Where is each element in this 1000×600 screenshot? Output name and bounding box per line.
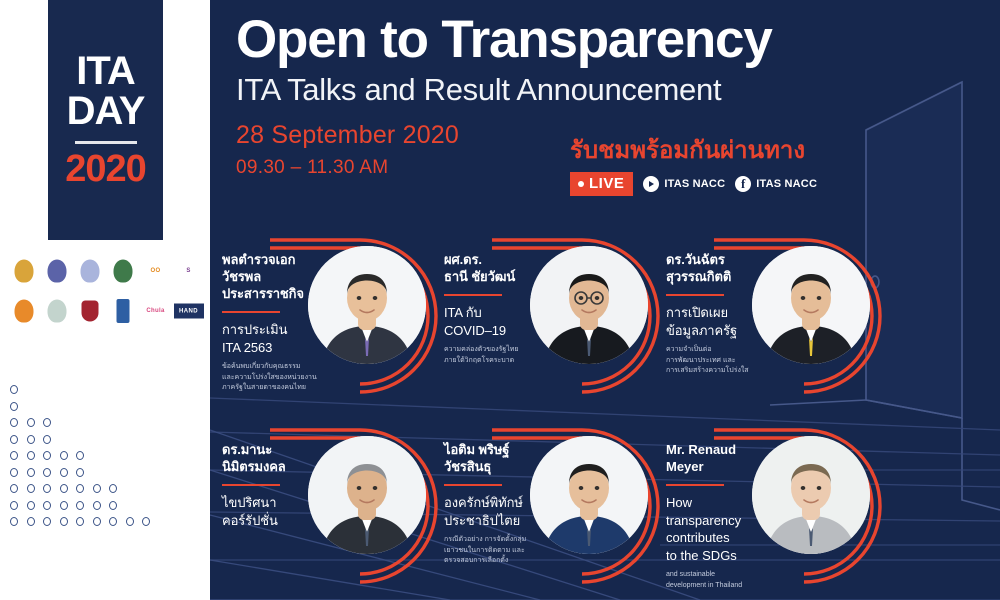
partner-logo-5: OO	[145, 258, 167, 284]
dot-circle-icon	[142, 517, 150, 526]
dot-circle-icon	[43, 501, 51, 510]
speaker-desc-line: development in Thailand	[666, 581, 778, 592]
partner-logo-10	[112, 298, 134, 324]
portrait-mana	[308, 436, 426, 554]
speaker-photo	[530, 246, 648, 364]
dot-circle-icon	[60, 517, 68, 526]
dot-circle-icon	[76, 468, 84, 477]
left-white-panel: ITA DAY 2020 OOSChulaHAND	[0, 0, 210, 600]
live-badge: LIVE	[570, 172, 633, 196]
dot-circle-icon	[93, 517, 101, 526]
speaker-description: ความคล่องตัวของรัฐไทยภายใต้วิกฤตโรคระบาด	[444, 345, 556, 366]
dot-circle-icon	[60, 468, 68, 477]
facebook-icon[interactable]: f	[735, 176, 751, 192]
speaker-description: ข้อค้นพบเกี่ยวกับคุณธรรมและความโปร่งใสขอ…	[222, 362, 334, 394]
dot-circle-icon	[93, 501, 101, 510]
speaker-photo	[752, 246, 870, 364]
page-subtitle: ITA Talks and Result Announcement	[236, 72, 772, 108]
portrait-parit	[530, 436, 648, 554]
partner-logo-4	[112, 258, 134, 284]
dot-circle-icon	[76, 517, 84, 526]
partner-logo-7	[13, 298, 35, 324]
live-dot-icon	[578, 181, 584, 187]
dot-circle-icon	[60, 451, 68, 460]
dot-circle-icon	[60, 501, 68, 510]
dot-circle-icon	[109, 517, 117, 526]
dot-circle-icon	[43, 451, 51, 460]
speaker-desc-line: และความโปร่งใสของหน่วยงาน	[222, 373, 334, 384]
dot-circle-icon	[10, 501, 18, 510]
dot-circle-icon	[27, 501, 35, 510]
speaker-card[interactable]: ดร.วันฉัตรสุวรรณกิตติ การเปิดเผยข้อมูลภา…	[654, 232, 884, 408]
partner-logo-2	[46, 258, 68, 284]
dot-circle-icon	[27, 435, 35, 444]
youtube-channel-name: ITAS NACC	[664, 178, 725, 190]
partner-logo-6: S	[178, 258, 200, 284]
dot-row	[10, 418, 200, 427]
partner-logo-1	[13, 258, 35, 284]
dot-circle-icon	[126, 517, 134, 526]
speaker-desc-line: ความจำเป็นต่อ	[666, 345, 778, 356]
dot-row	[10, 385, 200, 394]
watch-heading: รับชมพร้อมกันผ่านทาง	[570, 138, 817, 164]
speaker-divider	[444, 294, 502, 297]
speaker-card[interactable]: ผศ.ดร.ธานี ชัยวัฒน์ ITA กับCOVID–19 ความ…	[432, 232, 662, 408]
dot-row	[10, 435, 200, 444]
dot-circle-icon	[27, 484, 35, 493]
speaker-desc-line: กรณีตัวอย่าง การจัดตั้งกลุ่ม	[444, 535, 556, 546]
dot-row	[10, 517, 200, 526]
dot-row	[10, 451, 200, 460]
partner-logo-9	[79, 298, 101, 324]
speaker-name-line: ดร.วันฉัตร	[666, 252, 778, 269]
dot-circle-icon	[76, 501, 84, 510]
speaker-photo	[308, 436, 426, 554]
speaker-desc-line: ภายใต้วิกฤตโรคระบาด	[444, 356, 556, 367]
channel-facebook[interactable]: f ITAS NACC	[735, 176, 817, 192]
logo-text-ita: ITA	[76, 52, 134, 91]
partner-logo-12: HAND	[178, 298, 200, 324]
dot-circle-icon	[27, 468, 35, 477]
dot-circle-icon	[76, 451, 84, 460]
speaker-desc-line: ภาครัฐในสายตาของคนไทย	[222, 383, 334, 394]
channel-list: LIVE ITAS NACC f ITAS NACC	[570, 172, 817, 196]
speaker-description: กรณีตัวอย่าง การจัดตั้งกลุ่มเยาวชนในการต…	[444, 535, 556, 567]
dot-pattern-decoration	[10, 385, 200, 534]
dot-circle-icon	[43, 484, 51, 493]
partner-logos: OOSChulaHAND	[8, 252, 204, 330]
speaker-divider	[666, 484, 724, 487]
dot-row	[10, 501, 200, 510]
dot-circle-icon	[93, 484, 101, 493]
speaker-name-line: ไอติม พริษฐ์	[444, 442, 556, 459]
dot-circle-icon	[76, 484, 84, 493]
speaker-topic-line: contributes	[666, 529, 778, 547]
speaker-description: and sustainabledevelopment in Thailand	[666, 570, 778, 591]
speaker-divider	[222, 311, 280, 314]
page-title: Open to Transparency	[236, 12, 772, 68]
speaker-photo	[752, 436, 870, 554]
speaker-desc-line: เยาวชนในการติดตาม และ	[444, 546, 556, 557]
dot-circle-icon	[10, 468, 18, 477]
logo-divider	[75, 141, 137, 144]
dot-circle-icon	[43, 435, 51, 444]
speaker-desc-line: ข้อค้นพบเกี่ยวกับคุณธรรม	[222, 362, 334, 373]
partner-logo-3	[79, 258, 101, 284]
facebook-channel-name: ITAS NACC	[756, 178, 817, 190]
dot-circle-icon	[27, 517, 35, 526]
logo-text-day: DAY	[67, 92, 145, 131]
dot-row	[10, 468, 200, 477]
speaker-card[interactable]: Mr. RenaudMeyer Howtransparencycontribut…	[654, 422, 884, 598]
dot-circle-icon	[27, 451, 35, 460]
logo-text-year: 2020	[65, 150, 146, 188]
speaker-desc-line: การเสริมสร้างความโปร่งใส	[666, 366, 778, 377]
dot-circle-icon	[10, 418, 18, 427]
dot-circle-icon	[10, 435, 18, 444]
speaker-desc-line: and sustainable	[666, 570, 778, 581]
event-poster: ITA DAY 2020 OOSChulaHAND Open to Transp…	[0, 0, 1000, 600]
dot-circle-icon	[43, 418, 51, 427]
portrait-thanee	[530, 246, 648, 364]
speaker-name-line: Mr. Renaud	[666, 442, 778, 459]
dot-circle-icon	[43, 468, 51, 477]
speaker-divider	[444, 484, 502, 487]
dot-circle-icon	[10, 451, 18, 460]
speaker-divider	[666, 294, 724, 297]
partner-logo-11: Chula	[145, 298, 167, 324]
speaker-card[interactable]: ดร.มานะนิมิตรมงคล ไขปริศนาคอร์รัปชั่น	[210, 422, 440, 598]
portrait-watcharapol	[308, 246, 426, 364]
speaker-card-grid: พลตำรวจเอกวัชรพลประสารราชกิจ การประเมินI…	[210, 232, 1000, 600]
speaker-card[interactable]: ไอติม พริษฐ์วัชรสินธุ องครักษ์พิทักษ์ประ…	[432, 422, 662, 598]
speaker-name-line: พลตำรวจเอก	[222, 252, 334, 269]
ita-day-logo: ITA DAY 2020	[48, 0, 163, 240]
speaker-photo	[530, 436, 648, 554]
portrait-wanchat	[752, 246, 870, 364]
speaker-desc-line: ตรวจสอบการเลือกตั้ง	[444, 556, 556, 567]
speaker-card[interactable]: พลตำรวจเอกวัชรพลประสารราชกิจ การประเมินI…	[210, 232, 440, 408]
youtube-icon[interactable]	[643, 176, 659, 192]
speaker-name-line: ดร.มานะ	[222, 442, 334, 459]
speaker-desc-line: ความคล่องตัวของรัฐไทย	[444, 345, 556, 356]
dot-circle-icon	[60, 484, 68, 493]
dot-circle-icon	[10, 402, 18, 411]
dot-row	[10, 484, 200, 493]
dot-circle-icon	[10, 484, 18, 493]
dot-circle-icon	[43, 517, 51, 526]
speaker-photo	[308, 246, 426, 364]
dot-circle-icon	[109, 501, 117, 510]
speaker-description: ความจำเป็นต่อการพัฒนาประเทศ และการเสริมส…	[666, 345, 778, 377]
partner-logo-8	[46, 298, 68, 324]
dot-circle-icon	[109, 484, 117, 493]
speaker-name-line: ผศ.ดร.	[444, 252, 556, 269]
live-label: LIVE	[589, 175, 624, 192]
speaker-topic-line: to the SDGs	[666, 547, 778, 565]
dot-circle-icon	[10, 517, 18, 526]
channel-youtube[interactable]: ITAS NACC	[643, 176, 725, 192]
dot-row	[10, 402, 200, 411]
speaker-desc-line: การพัฒนาประเทศ และ	[666, 356, 778, 367]
dot-circle-icon	[27, 418, 35, 427]
watch-live-block: รับชมพร้อมกันผ่านทาง LIVE ITAS NACC f IT…	[570, 138, 817, 196]
portrait-renaud	[752, 436, 870, 554]
speaker-divider	[222, 484, 280, 487]
dot-circle-icon	[10, 385, 18, 394]
speaker-topic-line: ITA 2563	[222, 339, 334, 357]
